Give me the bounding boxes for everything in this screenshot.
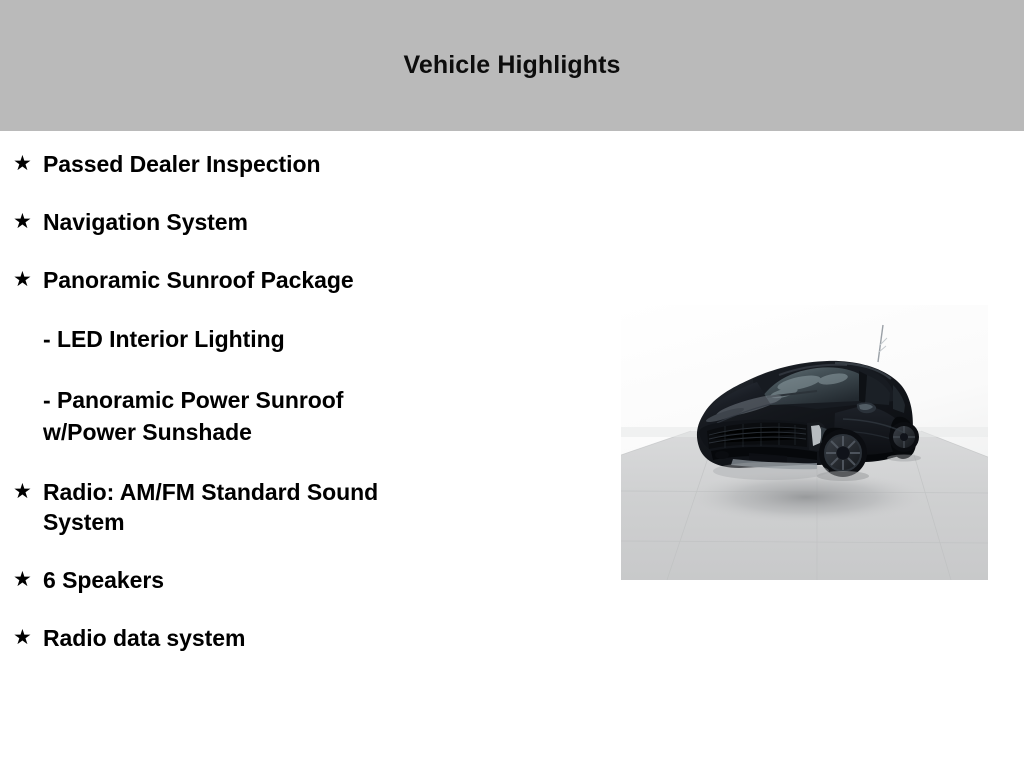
- vehicle-highlights-list: ★ Passed Dealer Inspection ★ Navigation …: [0, 131, 600, 681]
- page-title: Vehicle Highlights: [403, 53, 620, 78]
- list-item-label: 6 Speakers: [43, 565, 600, 595]
- list-sub-item: - Panoramic Power Sunroof w/Power Sunsha…: [0, 384, 600, 448]
- star-bullet-icon: ★: [13, 565, 43, 594]
- content-area: ★ Passed Dealer Inspection ★ Navigation …: [0, 131, 1024, 768]
- star-bullet-icon: ★: [13, 265, 43, 294]
- vehicle-photo: [621, 305, 988, 580]
- list-item-label: Panoramic Sunroof Package: [43, 265, 600, 295]
- list-item: ★ Radio data system: [0, 623, 600, 653]
- star-bullet-icon: ★: [13, 477, 43, 506]
- list-item-label: Radio: AM/FM Standard Sound System: [43, 477, 600, 537]
- list-sub-item-label: - LED Interior Lighting: [43, 323, 600, 355]
- star-bullet-icon: ★: [13, 149, 43, 178]
- list-item: ★ 6 Speakers: [0, 565, 600, 595]
- star-bullet-icon: ★: [13, 207, 43, 236]
- list-sub-item-label: - Panoramic Power Sunroof w/Power Sunsha…: [43, 384, 600, 448]
- star-bullet-icon: ★: [13, 623, 43, 652]
- list-item: ★ Navigation System: [0, 207, 600, 237]
- header-bar: Vehicle Highlights: [0, 0, 1024, 131]
- list-item: ★ Radio: AM/FM Standard Sound System: [0, 477, 600, 537]
- list-item: ★ Panoramic Sunroof Package: [0, 265, 600, 295]
- list-item-label: Navigation System: [43, 207, 600, 237]
- list-item: ★ Passed Dealer Inspection: [0, 149, 600, 179]
- list-sub-item: - LED Interior Lighting: [0, 323, 600, 355]
- list-item-label: Radio data system: [43, 623, 600, 653]
- list-item-label: Passed Dealer Inspection: [43, 149, 600, 179]
